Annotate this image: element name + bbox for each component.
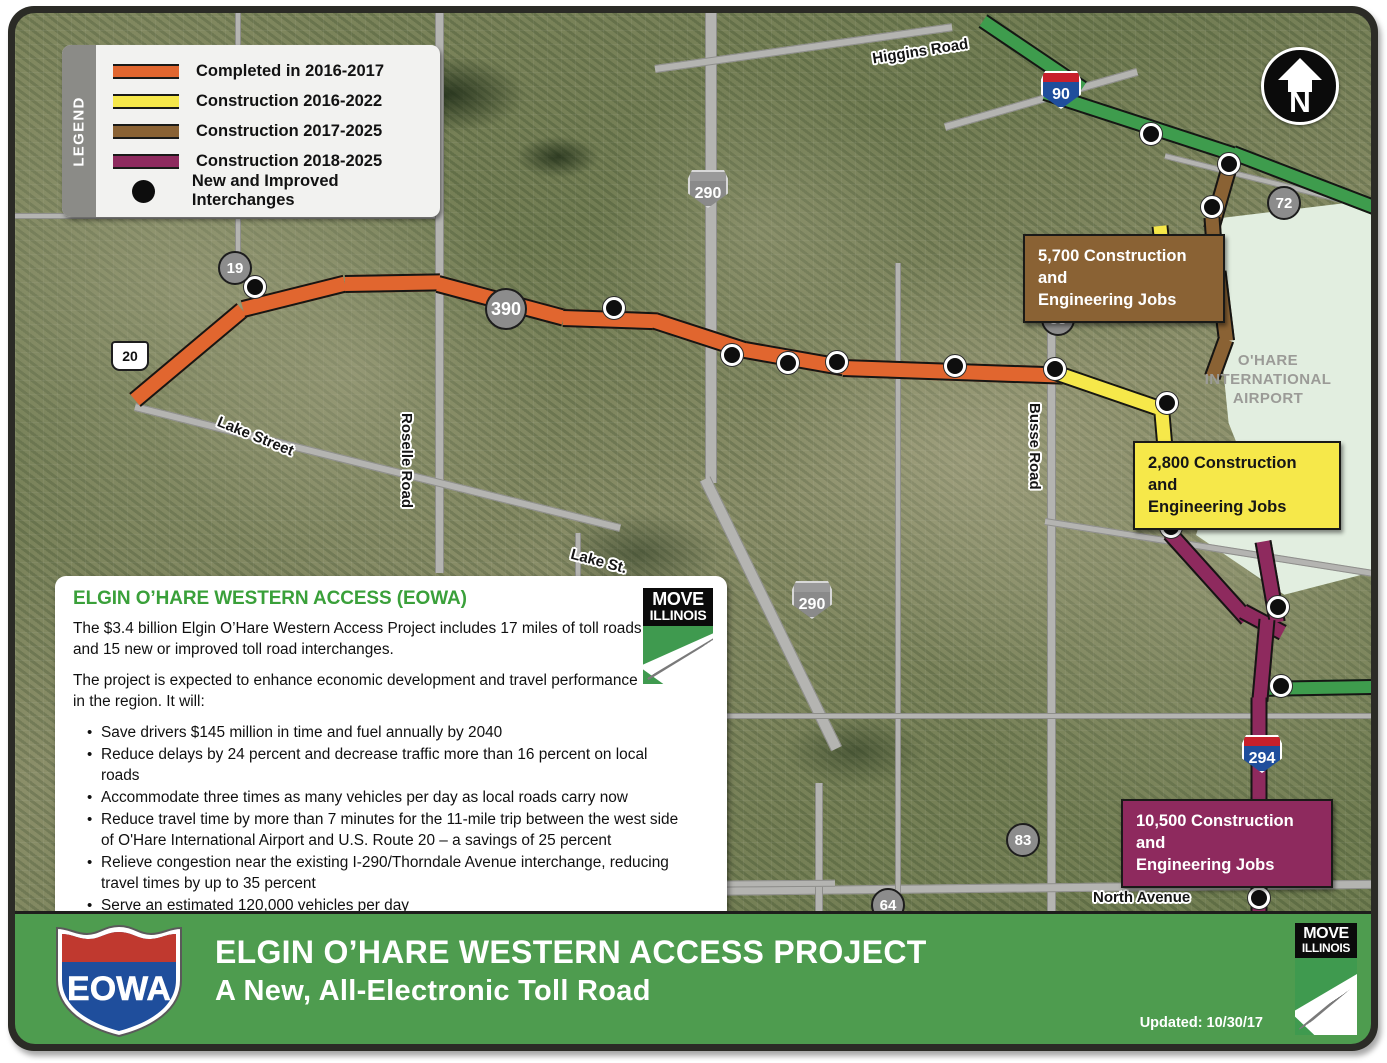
map-label-ohare-airport: O'HARE INTERNATIONAL AIRPORT bbox=[1193, 351, 1343, 408]
move-illinois-logo: MOVE ILLINOIS bbox=[643, 588, 713, 684]
road-83-south bbox=[815, 783, 823, 913]
interchange-dot[interactable] bbox=[1140, 123, 1162, 145]
info-bullet: Relieve congestion near the existing I-2… bbox=[87, 852, 687, 894]
move-illinois-wordmark: MOVE ILLINOIS bbox=[643, 588, 713, 626]
legend-swatch-yellow bbox=[113, 94, 179, 109]
legend: LEGEND Completed in 2016-2017 Constructi… bbox=[62, 45, 440, 217]
road-lake-street bbox=[134, 403, 621, 532]
brown-jobs-callout: 5,700 Construction and Engineering Jobs bbox=[1023, 234, 1225, 323]
legend-label: Construction 2016-2022 bbox=[196, 92, 382, 111]
interchange-dot[interactable] bbox=[1248, 887, 1270, 909]
legend-item-completed: Completed in 2016-2017 bbox=[113, 56, 430, 86]
legend-item-2016-2022: Construction 2016-2022 bbox=[113, 86, 430, 116]
move-illinois-line2: ILLINOIS bbox=[1295, 942, 1357, 955]
legend-label: Construction 2018-2025 bbox=[196, 152, 382, 171]
legend-item-2017-2025: Construction 2017-2025 bbox=[113, 116, 430, 146]
legend-label: Construction 2017-2025 bbox=[196, 122, 382, 141]
footer-title: ELGIN O’HARE WESTERN ACCESS PROJECT bbox=[215, 932, 927, 972]
move-illinois-logo-footer: MOVE ILLINOIS bbox=[1295, 923, 1357, 1035]
info-paragraph-1: The $3.4 billion Elgin O’Hare Western Ac… bbox=[73, 618, 653, 660]
move-illinois-line1: MOVE bbox=[1295, 925, 1357, 942]
legend-swatch-interchange-dot bbox=[113, 180, 175, 203]
interchange-dot[interactable] bbox=[721, 344, 743, 366]
road-290-corridor bbox=[705, 13, 717, 483]
info-bullet: Save drivers $145 million in time and fu… bbox=[87, 722, 687, 743]
route-shield-83-south: 83 bbox=[1006, 823, 1040, 857]
updated-date: Updated: 10/30/17 bbox=[1140, 1015, 1263, 1031]
satellite-map[interactable]: Higgins Road Lake Street Lake St. Rosell… bbox=[15, 13, 1371, 913]
interchange-dot[interactable] bbox=[1218, 153, 1240, 175]
route-shield-us20: 20 bbox=[111, 341, 149, 371]
route-shield-390: 390 bbox=[485, 288, 527, 330]
legend-tab: LEGEND bbox=[62, 45, 96, 217]
info-bullet: Accommodate three times as many vehicles… bbox=[87, 787, 687, 808]
footer-titles: ELGIN O’HARE WESTERN ACCESS PROJECT A Ne… bbox=[215, 932, 927, 1010]
purple-jobs-callout: 10,500 Construction and Engineering Jobs bbox=[1121, 799, 1333, 888]
legend-swatch-purple bbox=[113, 154, 179, 169]
info-title: ELGIN O’HARE WESTERN ACCESS (EOWA) bbox=[73, 588, 709, 610]
route-shield-72: 72 bbox=[1267, 186, 1301, 220]
route-orange-c bbox=[345, 273, 440, 293]
interchange-dot[interactable] bbox=[1156, 392, 1178, 414]
map-label-busse-road: Busse Road bbox=[1026, 403, 1043, 490]
route-yellow-a bbox=[1052, 364, 1169, 418]
route-shield-i294: 294 bbox=[1242, 735, 1282, 773]
info-bullet: Reduce delays by 24 percent and decrease… bbox=[87, 744, 687, 786]
interchange-dot[interactable] bbox=[1267, 596, 1289, 618]
map-label-north-avenue: North Avenue bbox=[1093, 889, 1190, 906]
info-bullet: Reduce travel time by more than 7 minute… bbox=[87, 809, 687, 851]
eowa-shield-logo: EOWA bbox=[39, 922, 199, 1040]
route-shield-i290-north: 290 bbox=[688, 170, 728, 208]
move-illinois-line2: ILLINOIS bbox=[643, 608, 713, 623]
info-panel: ELGIN O’HARE WESTERN ACCESS (EOWA) The $… bbox=[55, 576, 727, 913]
move-illinois-line1: MOVE bbox=[643, 590, 713, 608]
route-shield-i290-south: 290 bbox=[792, 581, 832, 619]
yellow-jobs-callout: 2,800 Construction and Engineering Jobs bbox=[1133, 441, 1341, 530]
map-label-roselle-road: Roselle Road bbox=[398, 413, 415, 508]
footer-subtitle: A New, All-Electronic Toll Road bbox=[215, 972, 927, 1010]
poster-frame: Higgins Road Lake Street Lake St. Rosell… bbox=[8, 6, 1378, 1051]
svg-text:EOWA: EOWA bbox=[67, 970, 171, 1008]
road-grid-d bbox=[715, 713, 1371, 719]
route-shield-19: 19 bbox=[218, 251, 252, 285]
interchange-dot[interactable] bbox=[826, 351, 848, 373]
legend-swatch-orange bbox=[113, 64, 179, 79]
move-illinois-wordmark: MOVE ILLINOIS bbox=[1295, 923, 1357, 958]
north-arrow-icon: N bbox=[1261, 47, 1339, 125]
legend-rows: Completed in 2016-2017 Construction 2016… bbox=[96, 45, 440, 217]
poster: Higgins Road Lake Street Lake St. Rosell… bbox=[0, 0, 1387, 1063]
interchange-dot[interactable] bbox=[777, 352, 799, 374]
map-label-lake-street: Lake Street bbox=[215, 413, 296, 459]
interchange-dot[interactable] bbox=[603, 297, 625, 319]
interchange-dot[interactable] bbox=[1270, 675, 1292, 697]
info-paragraph-2: The project is expected to enhance econo… bbox=[73, 670, 653, 712]
legend-tab-label: LEGEND bbox=[71, 96, 88, 166]
interchange-dot[interactable] bbox=[944, 355, 966, 377]
interchange-dot[interactable] bbox=[1044, 358, 1066, 380]
legend-item-interchanges: New and Improved Interchanges bbox=[113, 176, 430, 206]
legend-swatch-brown bbox=[113, 124, 179, 139]
info-bullet-list: Save drivers $145 million in time and fu… bbox=[87, 722, 709, 913]
interchange-dot[interactable] bbox=[1201, 196, 1223, 218]
svg-text:N: N bbox=[1289, 86, 1311, 119]
legend-label: Completed in 2016-2017 bbox=[196, 62, 384, 81]
footer-banner: EOWA ELGIN O’HARE WESTERN ACCESS PROJECT… bbox=[15, 911, 1371, 1044]
legend-label: New and Improved Interchanges bbox=[192, 172, 430, 210]
